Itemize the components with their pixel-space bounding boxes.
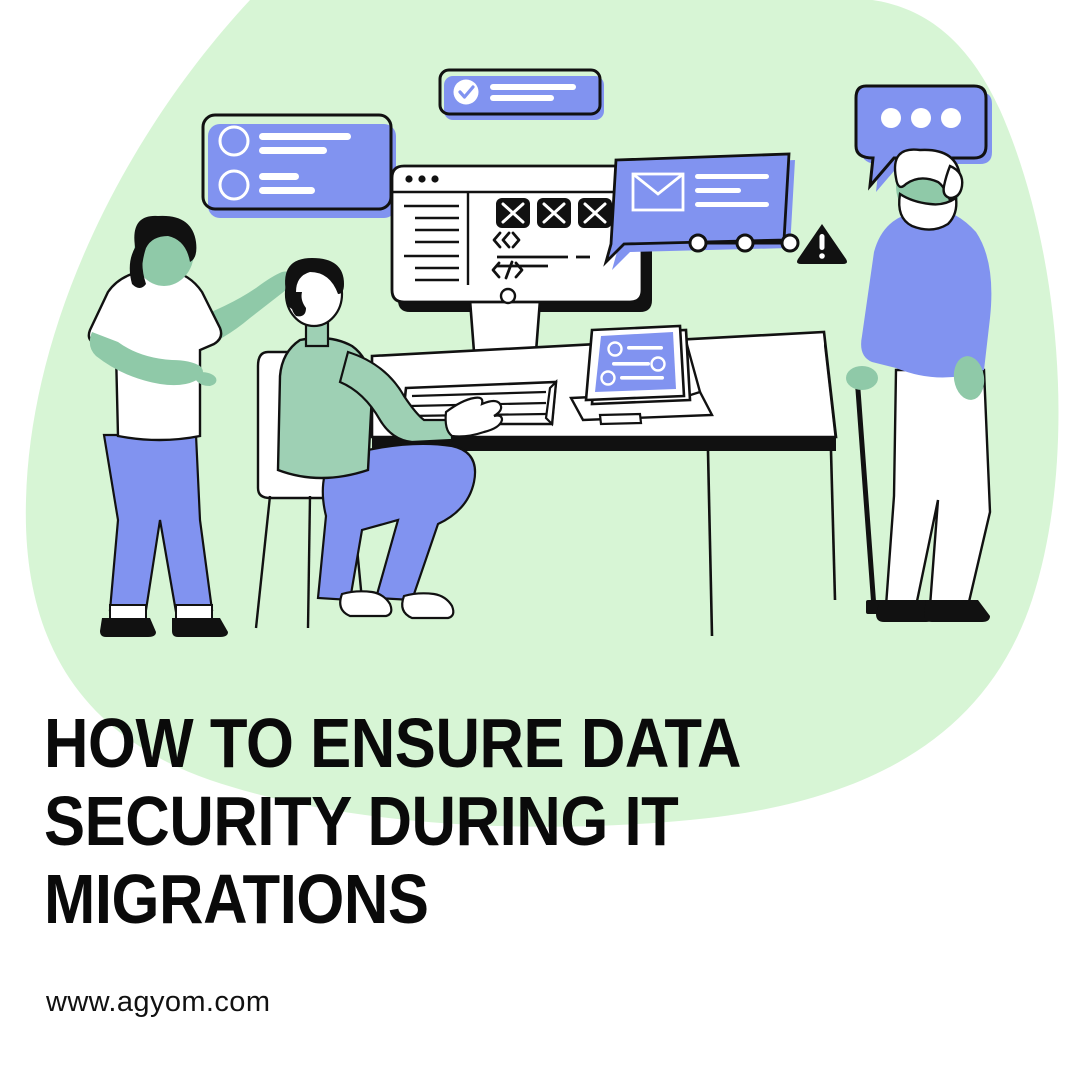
website-url[interactable]: www.agyom.com	[46, 986, 270, 1019]
headline-line-1: HOW TO ENSURE DATA	[44, 704, 748, 782]
headline-line-2: SECURITY DURING IT	[44, 782, 748, 860]
headline-line-3: MIGRATIONS	[44, 860, 748, 938]
floating-card-contacts	[203, 115, 396, 218]
floating-card-verified	[440, 70, 604, 120]
poster-canvas: HOW TO ENSURE DATA SECURITY DURING IT MI…	[0, 0, 1080, 1080]
error-tiles	[496, 198, 612, 228]
poster-headline: HOW TO ENSURE DATA SECURITY DURING IT MI…	[44, 704, 844, 938]
